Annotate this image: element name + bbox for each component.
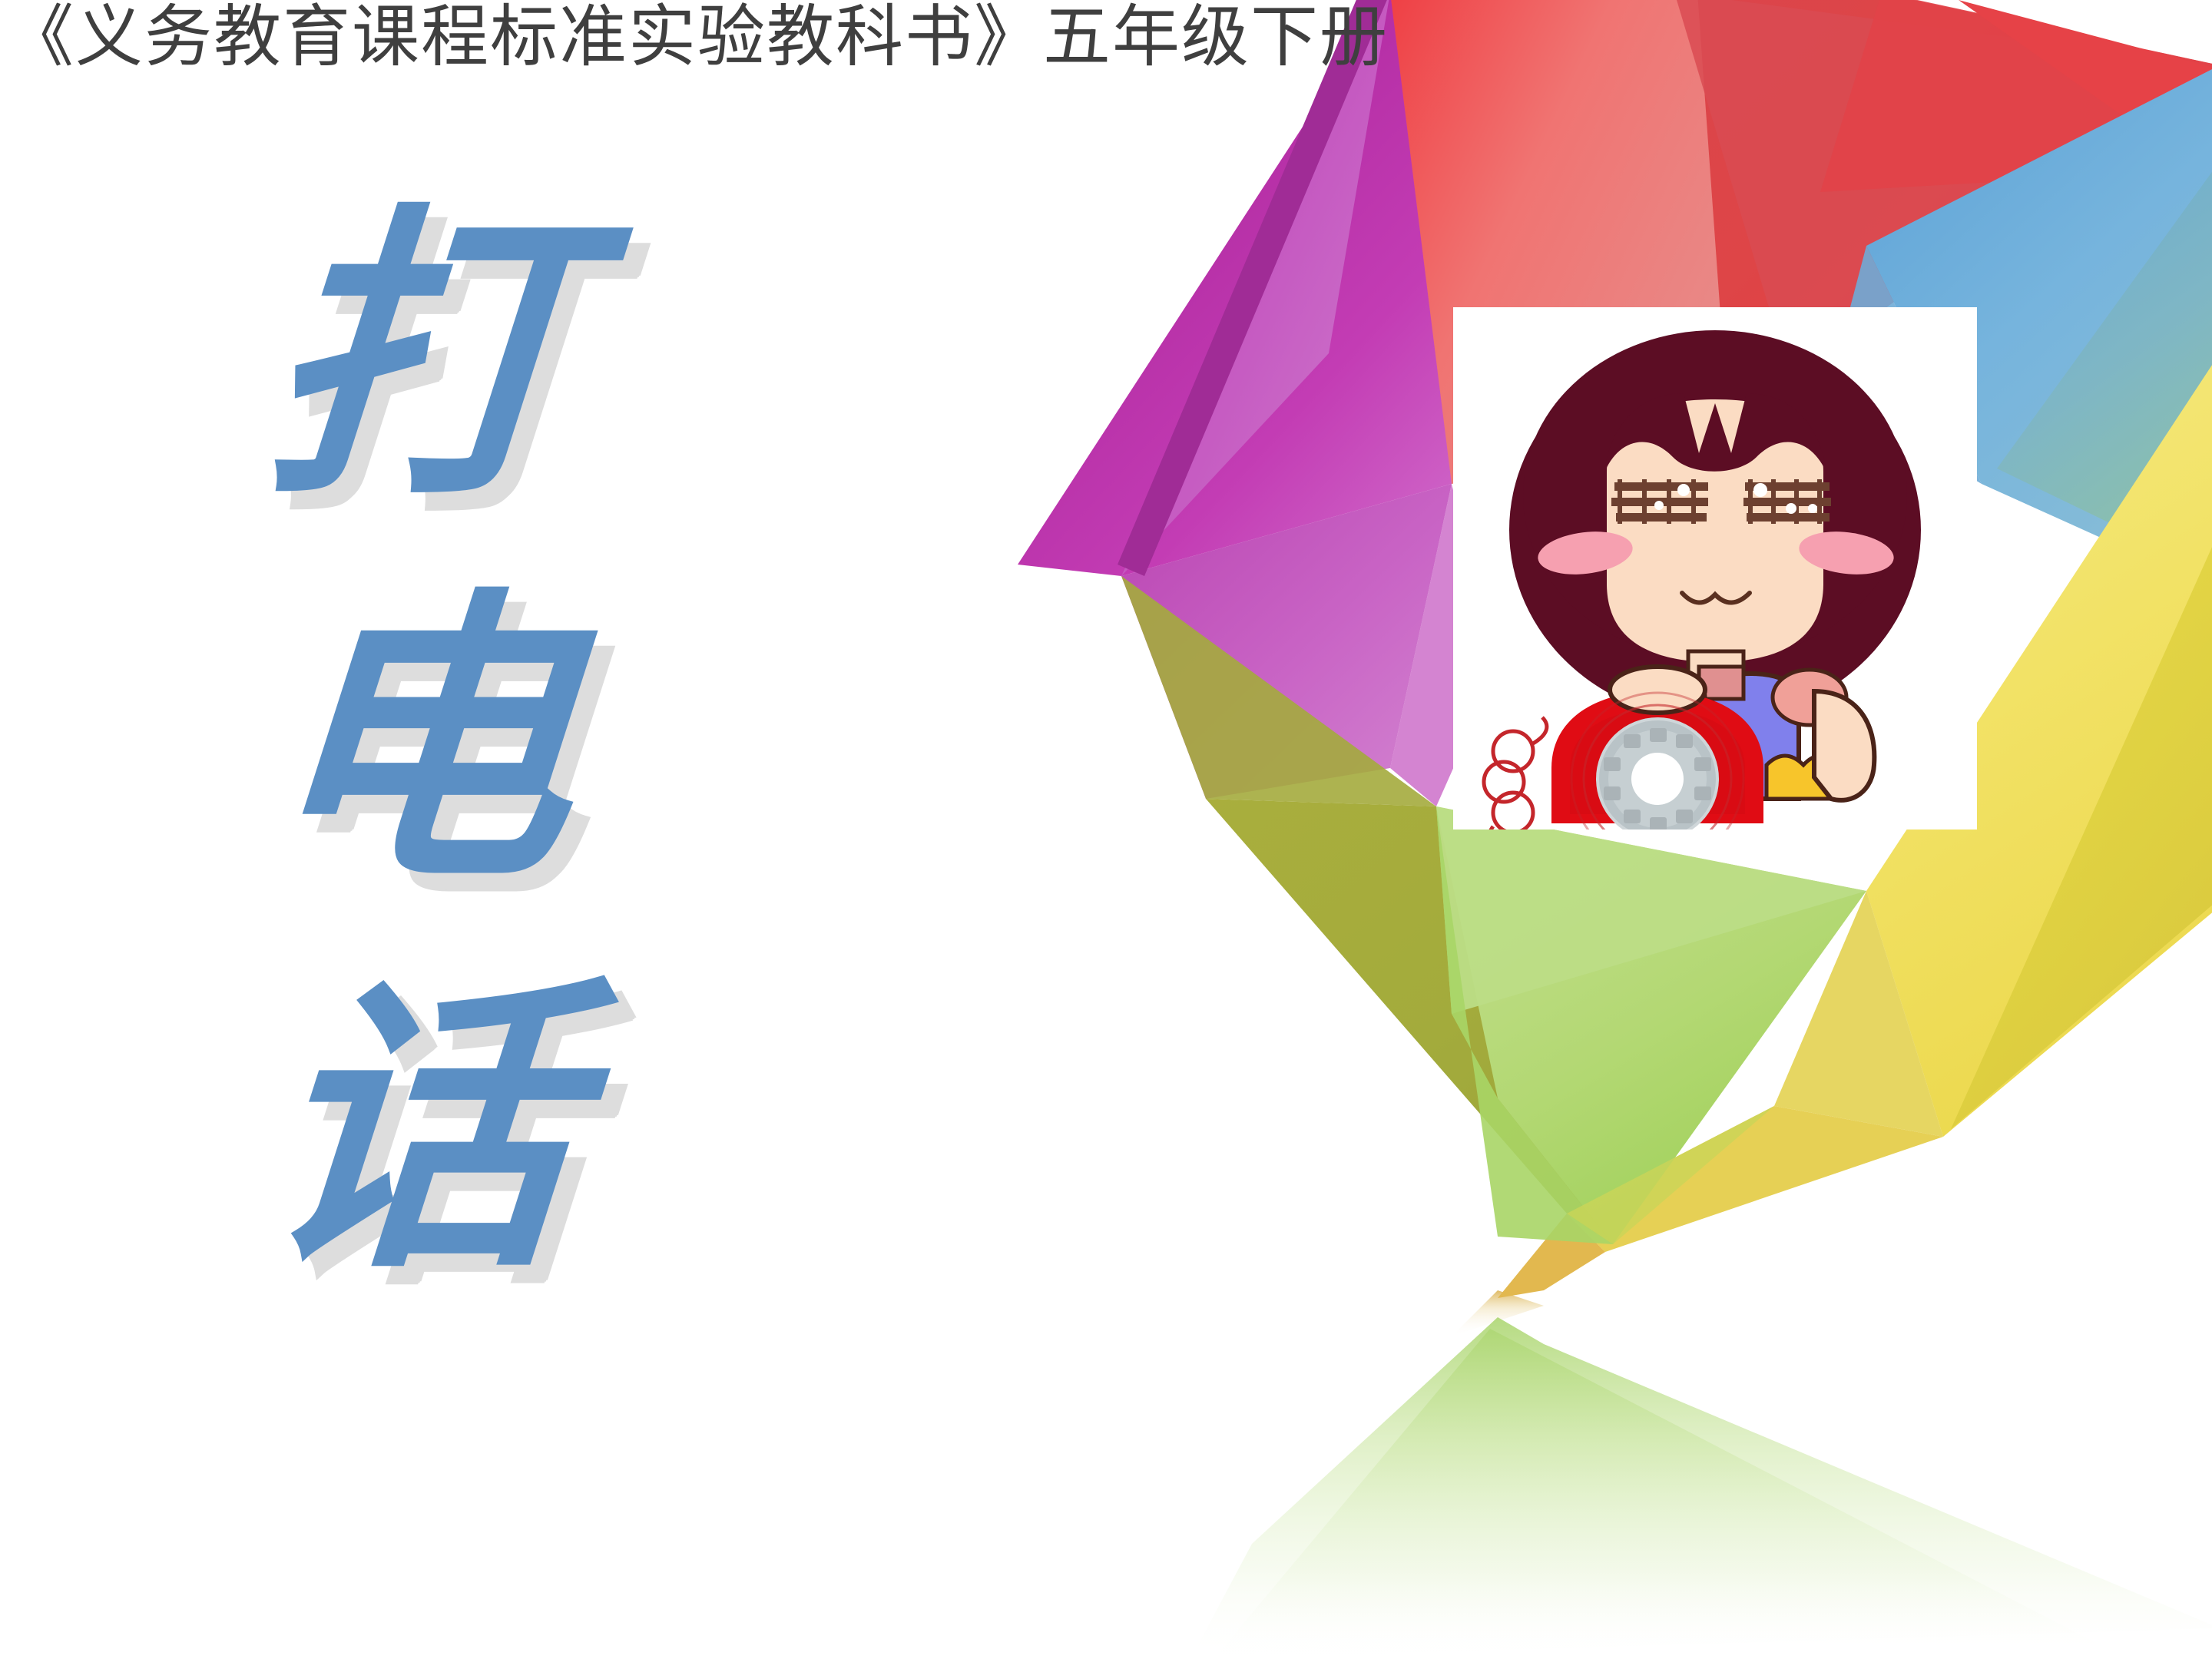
slide-canvas: 打 电 话 《义务教育课程标准实验教科书》五年级下册 [0, 0, 2212, 1659]
page-title: 《义务教育课程标准实验教科书》五年级下册 [6, 5, 1389, 72]
cartoon-girl-image [1453, 307, 1977, 829]
word-char-hua: 话 [242, 964, 595, 1294]
word-char-dian: 电 [242, 576, 595, 906]
word-char-da: 打 [242, 192, 595, 522]
vertical-word-title: 打 电 话 [253, 192, 584, 1344]
